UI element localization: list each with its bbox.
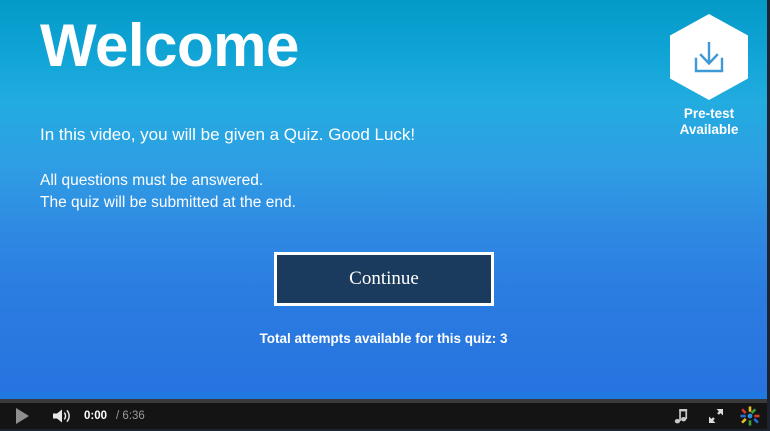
current-time: 0:00 xyxy=(84,410,107,422)
volume-icon xyxy=(52,408,72,424)
pre-test-badge[interactable]: Pre-test Available xyxy=(663,14,755,139)
player-control-bar: 0:00 / 6:36 xyxy=(0,403,767,429)
music-note-icon xyxy=(674,408,690,425)
instruction-line-2: The quiz will be submitted at the end. xyxy=(40,192,296,214)
audio-options-button[interactable] xyxy=(665,403,699,429)
instruction-line-1: All questions must be answered. xyxy=(40,170,296,192)
progress-scrubber[interactable] xyxy=(0,392,767,399)
fullscreen-icon xyxy=(707,407,725,425)
total-time: / 6:36 xyxy=(116,410,145,422)
intro-text: In this video, you will be given a Quiz.… xyxy=(40,124,415,146)
fullscreen-button[interactable] xyxy=(699,403,733,429)
techsmith-starburst-icon xyxy=(740,406,760,426)
volume-button[interactable] xyxy=(44,403,80,429)
play-icon xyxy=(16,408,29,424)
badge-label-line-2: Available xyxy=(663,122,755,138)
continue-button[interactable]: Continue xyxy=(274,252,494,306)
video-slide: Welcome In this video, you will be given… xyxy=(0,0,767,392)
page-title: Welcome xyxy=(40,14,299,77)
instructions-block: All questions must be answered. The quiz… xyxy=(40,170,296,215)
brand-button[interactable] xyxy=(733,403,767,429)
video-player: Welcome In this video, you will be given… xyxy=(0,0,770,431)
attempts-text: Total attempts available for this quiz: … xyxy=(0,331,767,346)
play-button[interactable] xyxy=(0,403,44,429)
hexagon-shape xyxy=(670,14,748,100)
badge-label-line-1: Pre-test xyxy=(663,106,755,122)
download-icon xyxy=(690,39,728,75)
pre-test-badge-label: Pre-test Available xyxy=(663,106,755,139)
